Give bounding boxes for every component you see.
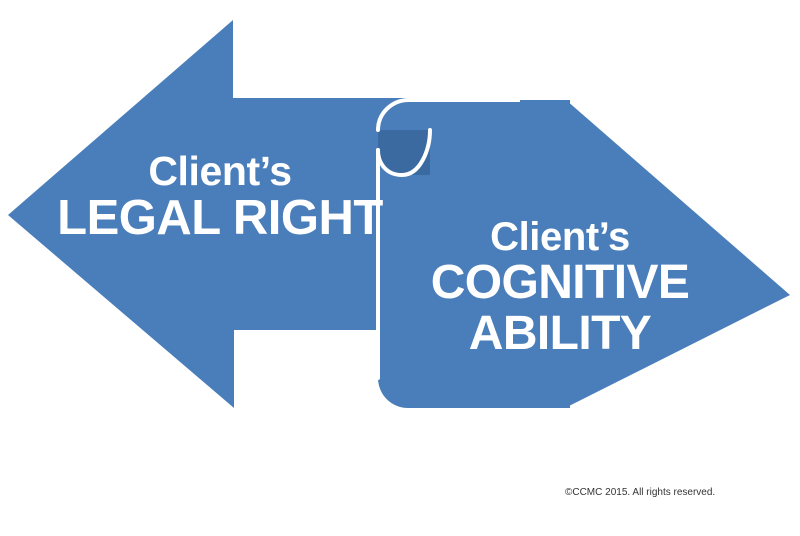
cognitive-ability-label-line-3: ABILITY [395, 309, 725, 360]
cognitive-ability-label-line-2: COGNITIVE [395, 258, 725, 309]
legal-right-label-line-2: LEGAL RIGHT [45, 193, 395, 245]
legal-right-label-line-1: Client’s [45, 150, 395, 193]
cognitive-ability-label-line-1: Client’s [395, 216, 725, 258]
cognitive-ability-label: Client’s COGNITIVE ABILITY [395, 216, 725, 360]
copyright-notice: ©CCMC 2015. All rights reserved. [565, 487, 715, 498]
legal-right-label: Client’s LEGAL RIGHT [45, 150, 395, 245]
diagram-canvas: Client’s LEGAL RIGHT Client’s COGNITIVE … [0, 0, 800, 536]
